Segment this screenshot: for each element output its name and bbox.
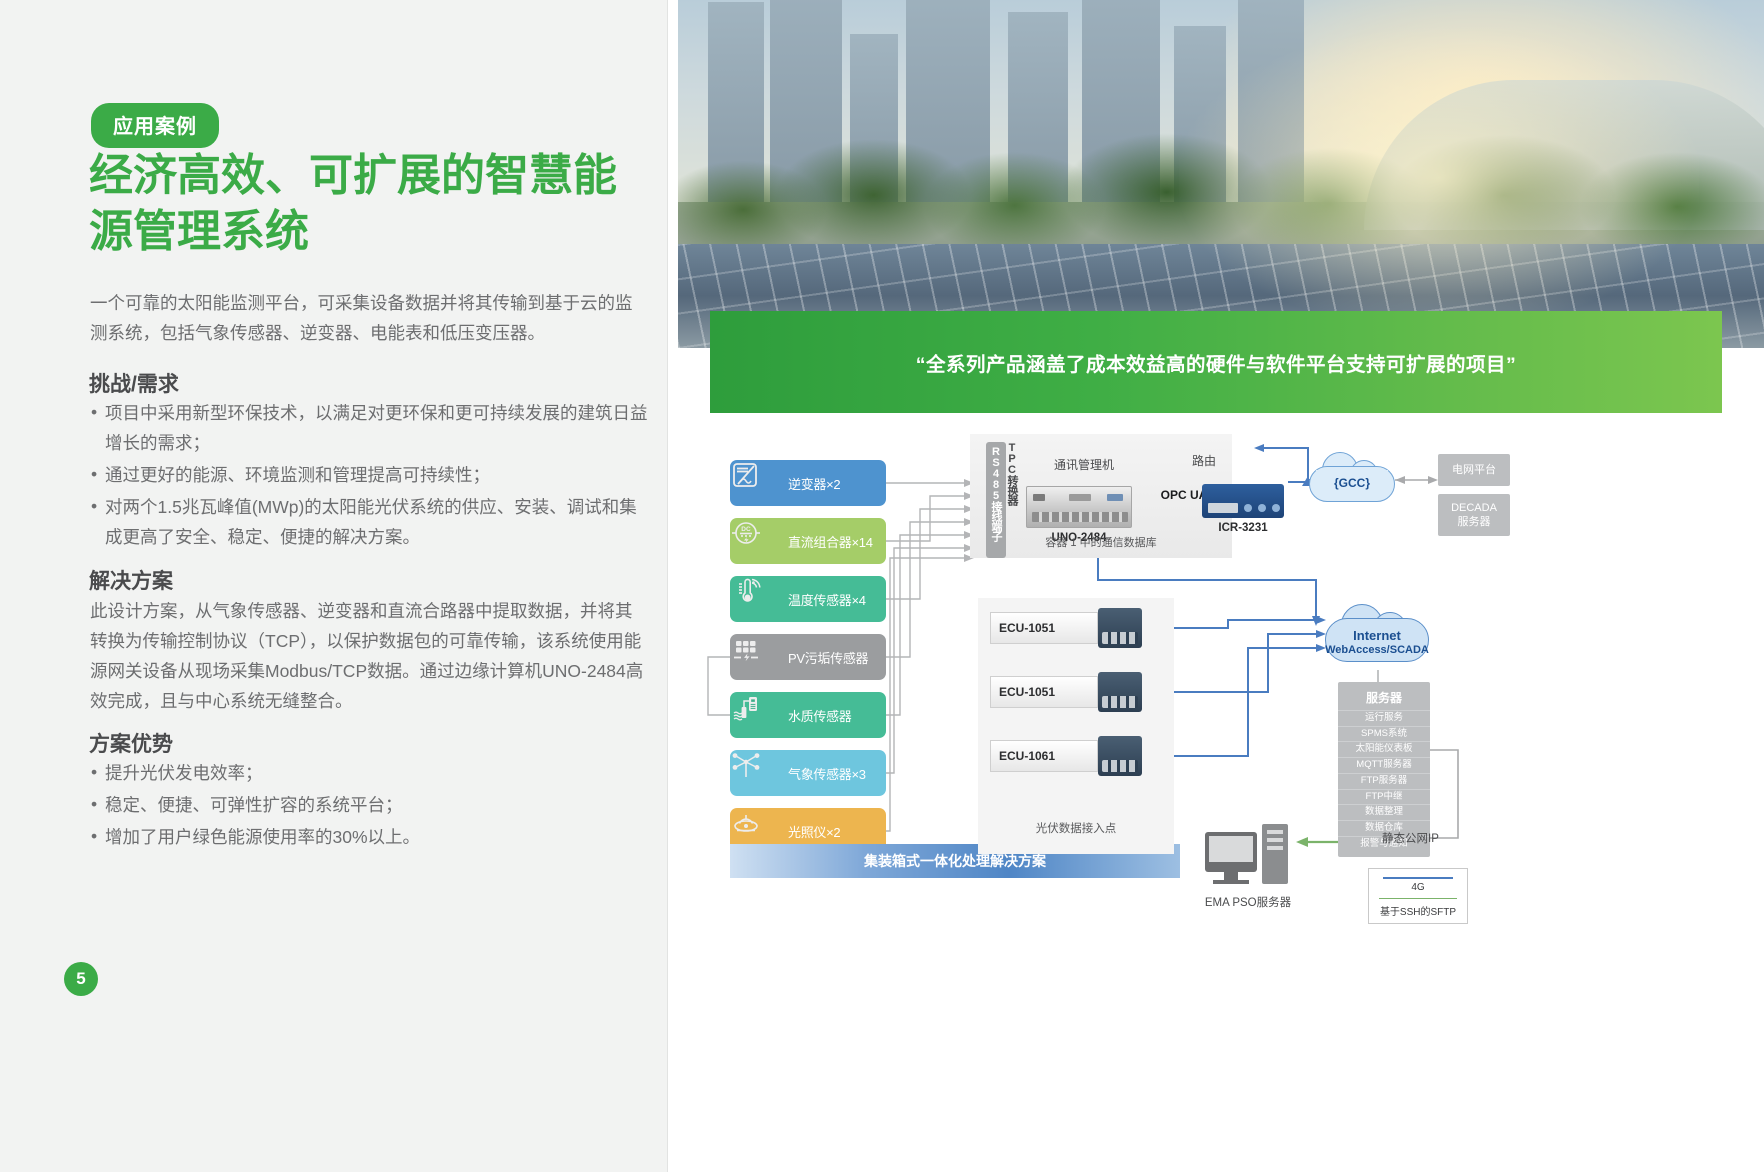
decada-line-1: DECADA: [1451, 501, 1497, 515]
legend-4g-label: 4G: [1373, 882, 1463, 893]
webaccess-scada-label: WebAccess/SCADA: [1325, 644, 1429, 656]
legend-box: 4G 基于SSH的SFTP: [1368, 868, 1468, 924]
ema-monitor-base: [1213, 880, 1249, 884]
device-label: PV污垢传感器: [782, 648, 886, 667]
device-label: 光照仪×2: [782, 822, 886, 841]
device-label: 气象传感器×3: [782, 764, 886, 783]
server-item: FTP服务器: [1338, 773, 1430, 789]
device-label: 温度传感器×4: [782, 590, 886, 609]
uno-2484-device-image: [1026, 486, 1132, 528]
ema-tower-image: [1262, 824, 1288, 884]
list-item: 对两个1.5兆瓦峰值(MWp)的太阳能光伏系统的供应、安装、调试和集成更高了安全…: [90, 492, 648, 552]
ecu-device-image-3: [1098, 736, 1142, 776]
pv-soiling-sensor-icon: [730, 634, 782, 680]
grid-platform-box: 电网平台: [1438, 454, 1510, 486]
hero-photo: [678, 0, 1764, 348]
ecu-device-image-1: [1098, 608, 1142, 648]
benefit-list: 提升光伏发电效率； 稳定、便捷、可弹性扩容的系统平台； 增加了用户绿色能源使用率…: [90, 758, 648, 854]
challenge-list: 项目中采用新型环保技术，以满足对更环保和更可持续发展的建筑日益增长的需求； 通过…: [90, 398, 648, 554]
list-item: 提升光伏发电效率；: [90, 758, 648, 788]
device-label: 逆变器×2: [782, 474, 886, 493]
list-item: 通过更好的能源、环境监测和管理提高可持续性；: [90, 460, 648, 490]
ecu-box-3: ECU-1061: [990, 740, 1098, 772]
icr-3231-device-image: [1202, 484, 1284, 518]
legend-sftp-line: [1379, 898, 1457, 899]
device-row-pv-soiling-sensor[interactable]: PV污垢传感器: [730, 634, 886, 680]
device-label: 直流组合器×14: [782, 532, 886, 551]
legend-sftp-label: 基于SSH的SFTP: [1373, 903, 1463, 918]
legend-4g-line: [1383, 877, 1453, 879]
server-item: 运行服务: [1338, 710, 1430, 726]
server-item: SPMS系统: [1338, 726, 1430, 742]
device-row-weather-sensor[interactable]: 气象传感器×3: [730, 750, 886, 796]
device-row-water-quality-sensor[interactable]: 水质传感器: [730, 692, 886, 738]
server-item: FTP中继: [1338, 789, 1430, 805]
static-public-ip-label: 静态公网IP: [1382, 830, 1439, 846]
device-row-temperature-sensor[interactable]: 温度传感器×4: [730, 576, 886, 622]
ema-monitor-image: [1205, 832, 1257, 872]
device-row-inverter[interactable]: 逆变器×2: [730, 460, 886, 506]
dc-combiner-icon: DC: [730, 518, 782, 564]
ecu-box-1: ECU-1051: [990, 612, 1098, 644]
list-item: 稳定、便捷、可弹性扩容的系统平台；: [90, 790, 648, 820]
device-label: 水质传感器: [782, 706, 886, 725]
temperature-sensor-icon: [730, 576, 782, 622]
ema-monitor-stand: [1224, 872, 1238, 880]
application-case-badge: 应用案例: [91, 103, 219, 148]
gcc-cloud: {GCC}: [1309, 452, 1395, 508]
system-architecture-diagram: 逆变器×2 DC 直流组合器×14: [668, 420, 1764, 940]
pv-access-point-caption: 光伏数据接入点: [978, 820, 1174, 836]
weather-sensor-icon: [730, 750, 782, 796]
list-item: 增加了用户绿色能源使用率的30%以上。: [90, 822, 648, 852]
server-stack-title: 服务器: [1338, 686, 1430, 710]
right-content-panel: “全系列产品涵盖了成本效益高的硬件与软件平台支持可扩展的项目”: [668, 0, 1764, 1172]
ecu-device-image-2: [1098, 672, 1142, 712]
page-title: 经济高效、可扩展的智慧能源管理系统: [89, 148, 649, 261]
svg-text:DC: DC: [741, 526, 751, 533]
ecu-box-2: ECU-1051: [990, 676, 1098, 708]
water-quality-sensor-icon: [730, 692, 782, 738]
server-item: 太阳能仪表板: [1338, 741, 1430, 757]
solution-heading: 解决方案: [89, 565, 173, 595]
comm-manager-label: 通讯管理机: [1054, 456, 1114, 473]
decada-server-box: DECADA 服务器: [1438, 494, 1510, 536]
benefit-heading: 方案优势: [89, 728, 173, 758]
ema-pso-server-caption: EMA PSO服务器: [1173, 894, 1323, 910]
solution-paragraph: 此设计方案，从气象传感器、逆变器和直流合路器中提取数据，并将其转换为传输控制协议…: [90, 596, 645, 716]
page-number-badge: 5: [64, 962, 98, 996]
internet-label: Internet: [1325, 628, 1429, 643]
router-label: 路由: [1192, 452, 1216, 469]
inverter-icon: [730, 460, 782, 506]
intro-paragraph: 一个可靠的太阳能监测平台，可采集设备数据并将其传输到基于云的监测系统，包括气象传…: [90, 288, 645, 348]
decada-line-2: 服务器: [1458, 515, 1491, 529]
server-item: 数据整理: [1338, 804, 1430, 820]
server-item: MQTT服务器: [1338, 757, 1430, 773]
icr-3231-caption: ICR-3231: [1202, 522, 1284, 534]
internet-cloud: Internet WebAccess/SCADA: [1325, 602, 1429, 670]
list-item: 项目中采用新型环保技术，以满足对更环保和更可持续发展的建筑日益增长的需求；: [90, 398, 648, 458]
quote-banner: “全系列产品涵盖了成本效益高的硬件与软件平台支持可扩展的项目”: [710, 311, 1722, 413]
tpc-converter-label: TPC转换器: [1004, 442, 1020, 505]
challenge-heading: 挑战/需求: [89, 368, 179, 398]
device-row-dc-combiner[interactable]: DC 直流组合器×14: [730, 518, 886, 564]
gcc-label: {GCC}: [1309, 476, 1395, 490]
gateway-caption: 容器 1 中的通信数据库: [970, 534, 1232, 550]
left-content-panel: 应用案例 经济高效、可扩展的智慧能源管理系统 一个可靠的太阳能监测平台，可采集设…: [0, 0, 668, 1172]
